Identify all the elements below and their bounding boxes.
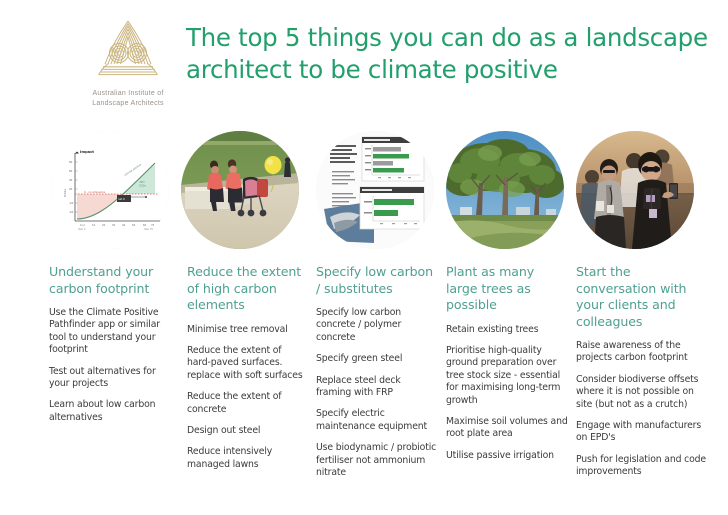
svg-text:50: 50: [132, 223, 136, 227]
column-reduce-high-carbon-elements: Reduce the extent of high carbon element…: [187, 264, 305, 471]
svg-text:80: 80: [69, 160, 73, 164]
list-item: Specify low carbon concrete / polymer co…: [316, 307, 438, 344]
list-item: Specify green steel: [316, 353, 438, 365]
circle-image-row: 8060 4020 -20-40 0 yr10 2030 4050 6070 t…: [0, 131, 728, 251]
column-heading: Reduce the extent of high carbon element…: [187, 264, 305, 314]
svg-text:CO2e: CO2e: [139, 185, 146, 188]
list-item: Prioritise high-quality ground preparati…: [446, 345, 568, 407]
svg-text:20: 20: [102, 223, 106, 227]
list-item: Raise awareness of the projects carbon f…: [576, 340, 708, 365]
list-item: Design out steel: [187, 425, 305, 437]
carbon-footprint-chart-image: 8060 4020 -20-40 0 yr10 2030 4050 6070 t…: [51, 131, 169, 249]
column-plant-large-trees: Plant as many large trees as possible Re…: [446, 264, 568, 462]
list-item: Retain existing trees: [446, 324, 568, 336]
column-understand-carbon-footprint: Understand your carbon footprint Use the…: [49, 264, 175, 424]
column-item-list: Raise awareness of the projects carbon f…: [576, 340, 708, 479]
list-item: Maximise soil volumes and root plate are…: [446, 416, 568, 441]
header: Australian Institute of Landscape Archit…: [0, 0, 728, 122]
logo-wordmark: Australian Institute of Landscape Archit…: [72, 89, 184, 108]
list-item: Push for legislation and code improvemen…: [576, 454, 708, 479]
list-item: Specify electric maintenance equipment: [316, 408, 438, 433]
svg-text:30: 30: [112, 223, 116, 227]
column-heading: Understand your carbon footprint: [49, 264, 175, 297]
infographic-page: Australian Institute of Landscape Archit…: [0, 0, 728, 515]
list-item: Consider biodiverse offsets where it is …: [576, 374, 708, 411]
logo-text-line-2: Landscape Architects: [72, 99, 184, 109]
svg-text:net 0: net 0: [118, 197, 125, 201]
people-conversation-image: [576, 131, 694, 249]
svg-text:-20: -20: [69, 201, 74, 205]
svg-text:60: 60: [143, 223, 147, 227]
large-trees-image: [446, 131, 564, 249]
svg-text:Year 70: Year 70: [144, 228, 153, 231]
list-item: Use the Climate Positive Pathfinder app …: [49, 307, 175, 357]
list-item: Learn about low carbon alternatives: [49, 399, 175, 424]
logo-text-line-1: Australian Institute of: [72, 89, 184, 99]
list-item: Minimise tree removal: [187, 324, 305, 336]
aila-logo-icon: [89, 18, 167, 84]
svg-text:40: 40: [69, 178, 73, 182]
column-item-list: Minimise tree removal Reduce the extent …: [187, 324, 305, 472]
column-start-the-conversation: Start the conversation with your clients…: [576, 264, 708, 479]
column-heading: Start the conversation with your clients…: [576, 264, 708, 330]
list-item: Utilise passive irrigation: [446, 450, 568, 462]
svg-text:Impact: Impact: [80, 150, 94, 154]
svg-text:70: 70: [151, 223, 155, 227]
content-columns: Understand your carbon footprint Use the…: [0, 264, 728, 509]
people-seated-park-image: [181, 131, 299, 249]
list-item: Use biodynamic / probiotic fertiliser no…: [316, 442, 438, 479]
logo-block: Australian Institute of Landscape Archit…: [72, 18, 184, 108]
column-item-list: Use the Climate Positive Pathfinder app …: [49, 307, 175, 424]
svg-text:-40: -40: [69, 210, 74, 214]
list-item: Replace steel deck framing with FRP: [316, 375, 438, 400]
column-item-list: Specify low carbon concrete / polymer co…: [316, 307, 438, 479]
materials-dashboard-image: [316, 131, 434, 249]
svg-text:0 - no emissions: 0 - no emissions: [84, 190, 106, 194]
list-item: Engage with manufacturers on EPD's: [576, 420, 708, 445]
list-item: Test out alternatives for your projects: [49, 366, 175, 391]
svg-text:20: 20: [69, 187, 73, 191]
list-item: Reduce intensively managed lawns: [187, 446, 305, 471]
svg-text:tCO2e: tCO2e: [63, 189, 67, 198]
column-heading: Plant as many large trees as possible: [446, 264, 568, 314]
column-item-list: Retain existing trees Prioritise high-qu…: [446, 324, 568, 463]
svg-text:10: 10: [92, 223, 96, 227]
list-item: Reduce the extent of hard-paved surfaces…: [187, 345, 305, 382]
column-specify-low-carbon-substitutes: Specify low carbon / substitutes Specify…: [316, 264, 438, 479]
page-title: The top 5 things you can do as a landsca…: [186, 22, 714, 86]
column-heading: Specify low carbon / substitutes: [316, 264, 438, 297]
svg-text:Year 0: Year 0: [78, 228, 86, 231]
svg-text:40: 40: [122, 223, 126, 227]
svg-text:60: 60: [69, 169, 73, 173]
list-item: Reduce the extent of concrete: [187, 391, 305, 416]
